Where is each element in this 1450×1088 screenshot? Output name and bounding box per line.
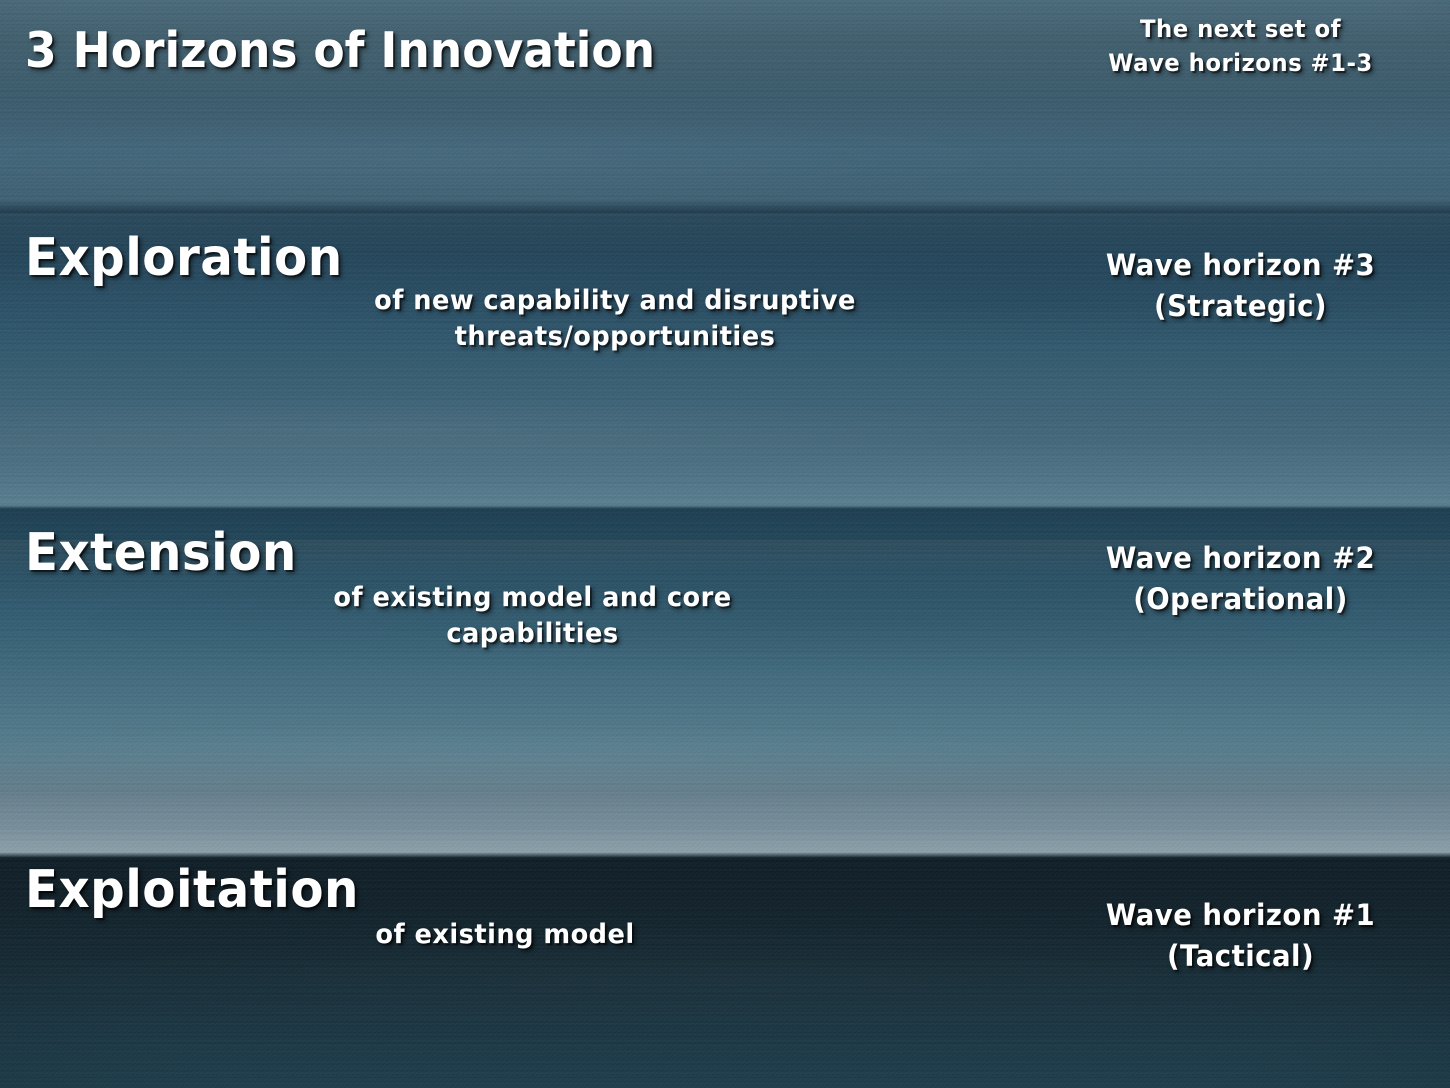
- wave-horizon-label-2-line-1: Wave horizon #2: [1106, 541, 1375, 575]
- horizon-subtitle-exploration: of new capability and disruptive threats…: [344, 283, 886, 354]
- wave-horizon-label-3-line-2: (Strategic): [1041, 286, 1440, 327]
- wave-horizon-label-1-line-2: (Tactical): [1041, 936, 1440, 977]
- horizon-heading-exploitation: Exploitation: [25, 864, 359, 916]
- horizon-subtitle-exploration-line-2: threats/opportunities: [455, 321, 776, 352]
- wave-horizon-label-2-line-2: (Operational): [1041, 579, 1440, 620]
- wave-horizon-label-1: Wave horizon #1 (Tactical): [1041, 895, 1440, 977]
- header-note-line-1: The next set of: [1140, 15, 1341, 43]
- horizon-subtitle-exploration-line-1: of new capability and disruptive: [374, 285, 856, 316]
- header-note: The next set of Wave horizons #1-3: [1041, 12, 1440, 80]
- horizon-subtitle-extension-line-2: capabilities: [446, 618, 618, 649]
- horizon-subtitle-exploitation-line-1: of existing model: [375, 919, 634, 950]
- wave-horizon-label-3-line-1: Wave horizon #3: [1106, 248, 1375, 282]
- slide-3-horizons-of-innovation: 3 Horizons of Innovation The next set of…: [0, 0, 1450, 1088]
- horizon-subtitle-exploitation: of existing model: [339, 917, 672, 953]
- wave-horizon-label-3: Wave horizon #3 (Strategic): [1041, 245, 1440, 327]
- horizon-heading-extension: Extension: [25, 527, 297, 579]
- wave-horizon-label-1-line-1: Wave horizon #1: [1106, 898, 1375, 932]
- header-note-line-2: Wave horizons #1-3: [1041, 46, 1440, 80]
- wave-horizon-label-2: Wave horizon #2 (Operational): [1041, 538, 1440, 620]
- horizon-heading-exploration: Exploration: [25, 232, 343, 284]
- horizon-subtitle-extension-line-1: of existing model and core: [333, 582, 731, 613]
- page-title: 3 Horizons of Innovation: [25, 26, 655, 75]
- horizon-subtitle-extension: of existing model and core capabilities: [288, 580, 777, 651]
